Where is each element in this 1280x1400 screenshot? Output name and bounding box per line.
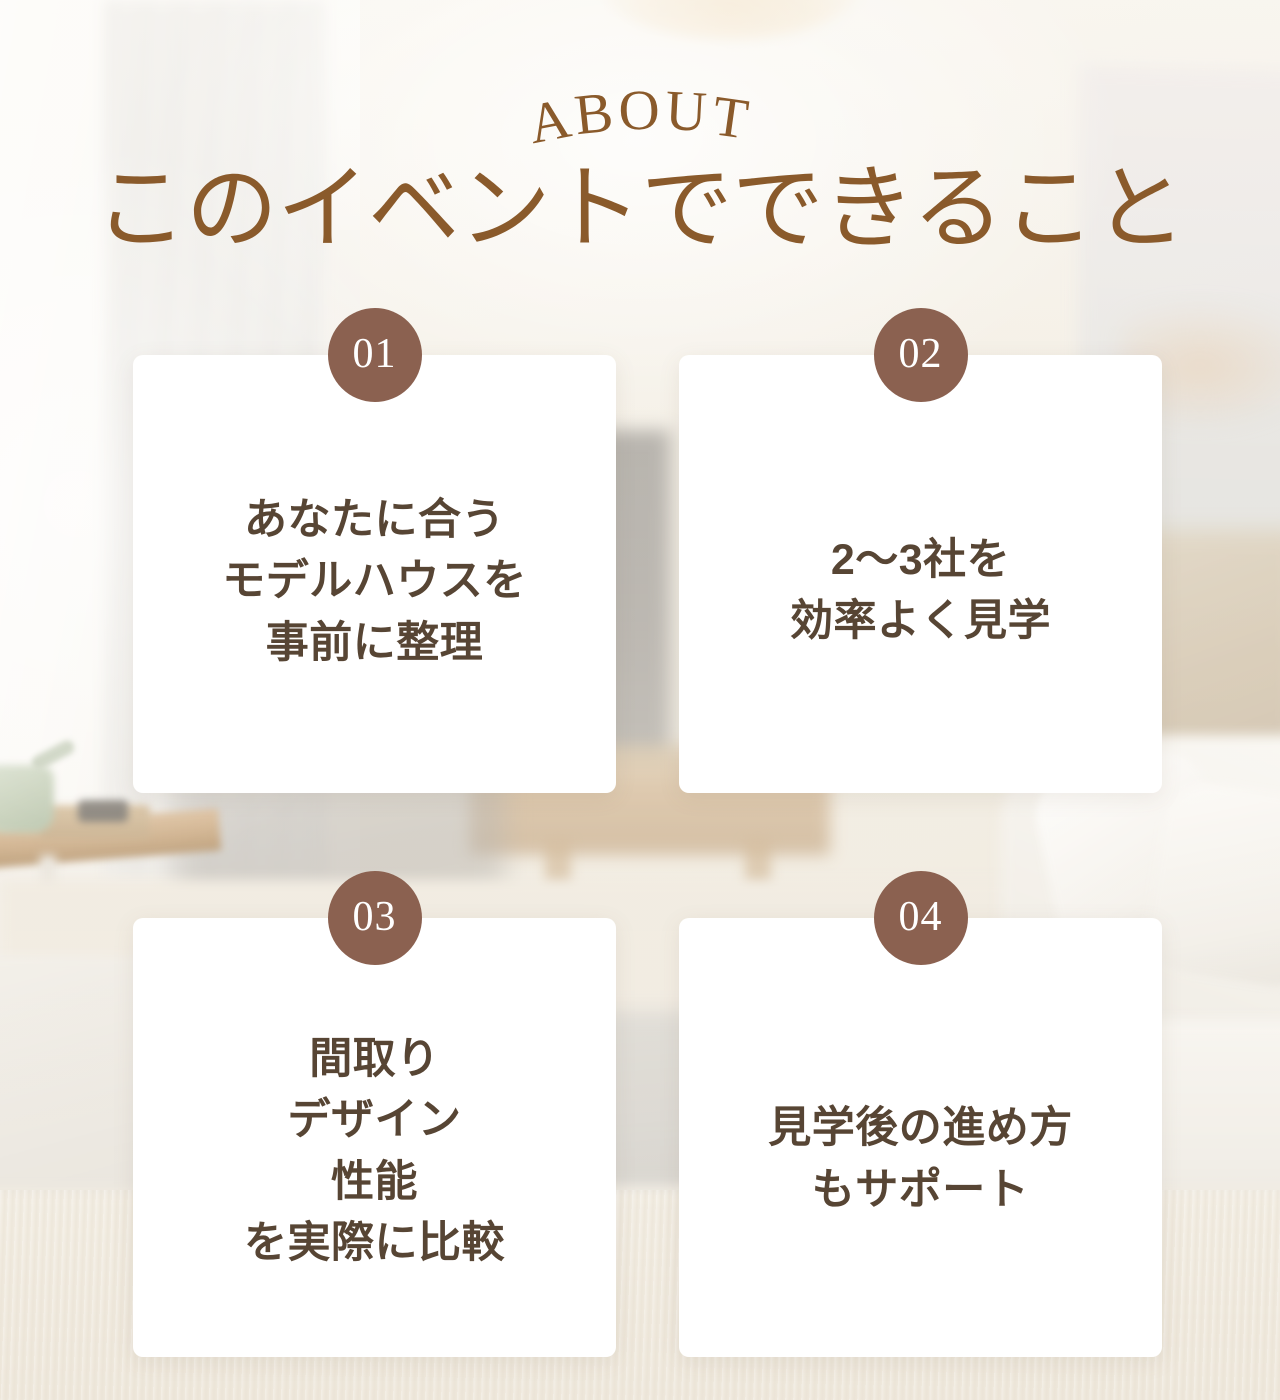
eyebrow-letter: U [664,78,711,145]
about-section: ABOUT このイベントでできること 01 あなたに合う モデルハウスを 事前に… [0,0,1280,1400]
card-text-02: 2〜3社を 効率よく見学 [772,530,1069,652]
card-line: もサポート [768,1160,1073,1221]
card-line: モデルハウスを [222,551,527,612]
eyebrow-letter: O [618,77,663,143]
eyebrow-letter: T [708,83,754,152]
eyebrow-about: ABOUT [537,78,743,143]
card-line: あなたに合う [222,490,527,551]
feature-card-grid: 01 あなたに合う モデルハウスを 事前に整理 02 2〜3社を 効率よく見学 … [133,355,1162,1357]
eyebrow-wrapper: ABOUT [0,78,1280,164]
card-line: を実際に比較 [244,1213,505,1274]
card-line: 効率よく見学 [790,591,1051,652]
card-number-badge: 01 [328,308,422,402]
card-line: デザイン [244,1090,505,1151]
card-line: 2〜3社を [790,530,1051,591]
eyebrow-letter: A [523,85,578,157]
feature-card-04: 04 見学後の進め方 もサポート [679,918,1162,1357]
card-number-badge: 02 [874,308,968,402]
card-number-badge: 03 [328,871,422,965]
card-text-04: 見学後の進め方 もサポート [750,1098,1091,1220]
page-title: このイベントでできること [0,160,1280,259]
eyebrow-letter: B [572,79,619,148]
feature-card-03: 03 間取り デザイン 性能 を実際に比較 [133,918,616,1357]
card-line: 見学後の進め方 [768,1098,1073,1159]
card-line: 事前に整理 [222,613,527,674]
card-text-01: あなたに合う モデルハウスを 事前に整理 [204,490,545,673]
feature-card-02: 02 2〜3社を 効率よく見学 [679,355,1162,793]
feature-card-01: 01 あなたに合う モデルハウスを 事前に整理 [133,355,616,793]
card-number-badge: 04 [874,871,968,965]
card-line: 性能 [244,1152,505,1213]
card-text-03: 間取り デザイン 性能 を実際に比較 [226,1029,523,1273]
card-line: 間取り [244,1029,505,1090]
